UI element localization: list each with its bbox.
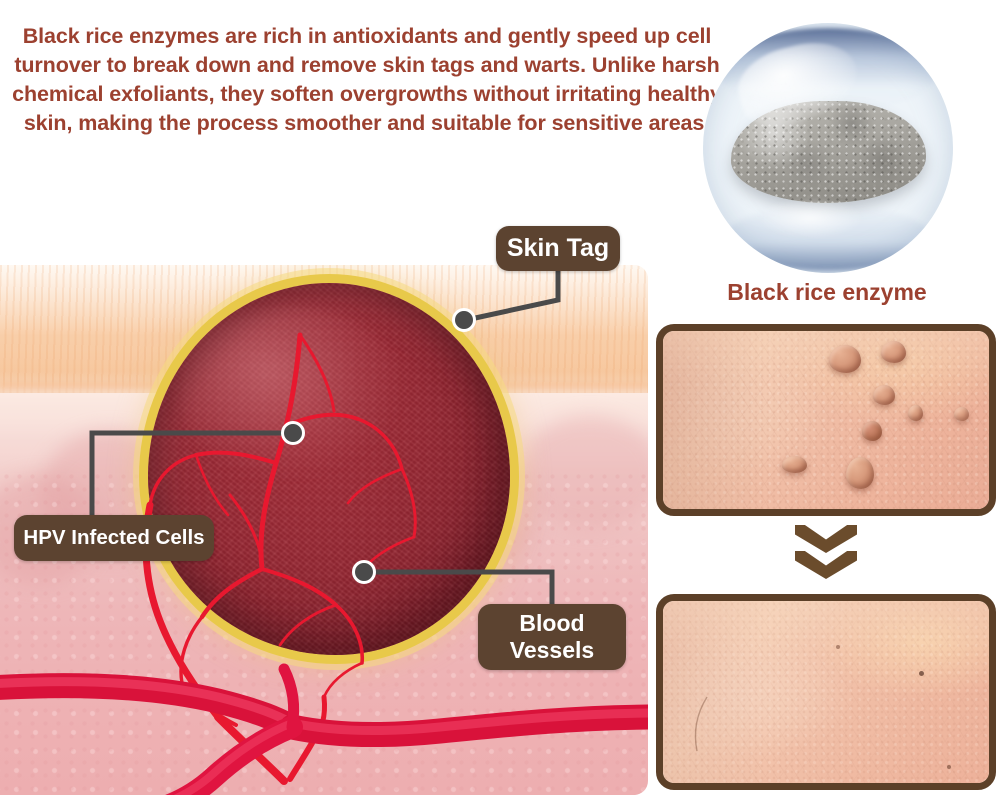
chevron-top	[795, 525, 857, 553]
fine-skin-line	[663, 601, 989, 783]
headline-text: Black rice enzymes are rich in antioxida…	[4, 22, 730, 138]
skin-tag-lesion	[846, 457, 874, 489]
before-photo	[656, 324, 996, 516]
sphere-rim	[703, 23, 953, 273]
skin-tag-lesion	[829, 345, 861, 373]
photo-highlight	[663, 331, 989, 384]
label-blood-line1: Blood	[510, 610, 594, 637]
ingredient-sphere	[703, 23, 953, 273]
label-blood-line2: Vessels	[510, 637, 594, 664]
double-chevron-down-icon	[795, 525, 857, 585]
skin-tag-lesion	[881, 341, 906, 363]
skin-freckle	[836, 645, 840, 649]
skin-tag-lesion	[782, 456, 807, 473]
label-hpv-infected-cells: HPV Infected Cells	[14, 515, 214, 561]
label-skin-tag: Skin Tag	[496, 226, 620, 271]
skin-freckle	[947, 765, 951, 769]
skin-tag-lesion	[873, 385, 895, 405]
label-hpv-text: HPV Infected Cells	[23, 526, 204, 550]
after-photo	[656, 594, 996, 790]
infographic-canvas: Black rice enzymes are rich in antioxida…	[0, 0, 1000, 795]
chevron-bottom	[795, 551, 857, 579]
ingredient-caption: Black rice enzyme	[660, 279, 994, 306]
skin-tag-lesion	[954, 407, 969, 421]
skin-tag-lesion	[862, 421, 882, 441]
skin-tag-lesion	[908, 405, 923, 421]
label-blood-vessels: Blood Vessels	[478, 604, 626, 670]
skin-freckle	[919, 671, 924, 676]
label-skin-tag-text: Skin Tag	[507, 234, 609, 263]
